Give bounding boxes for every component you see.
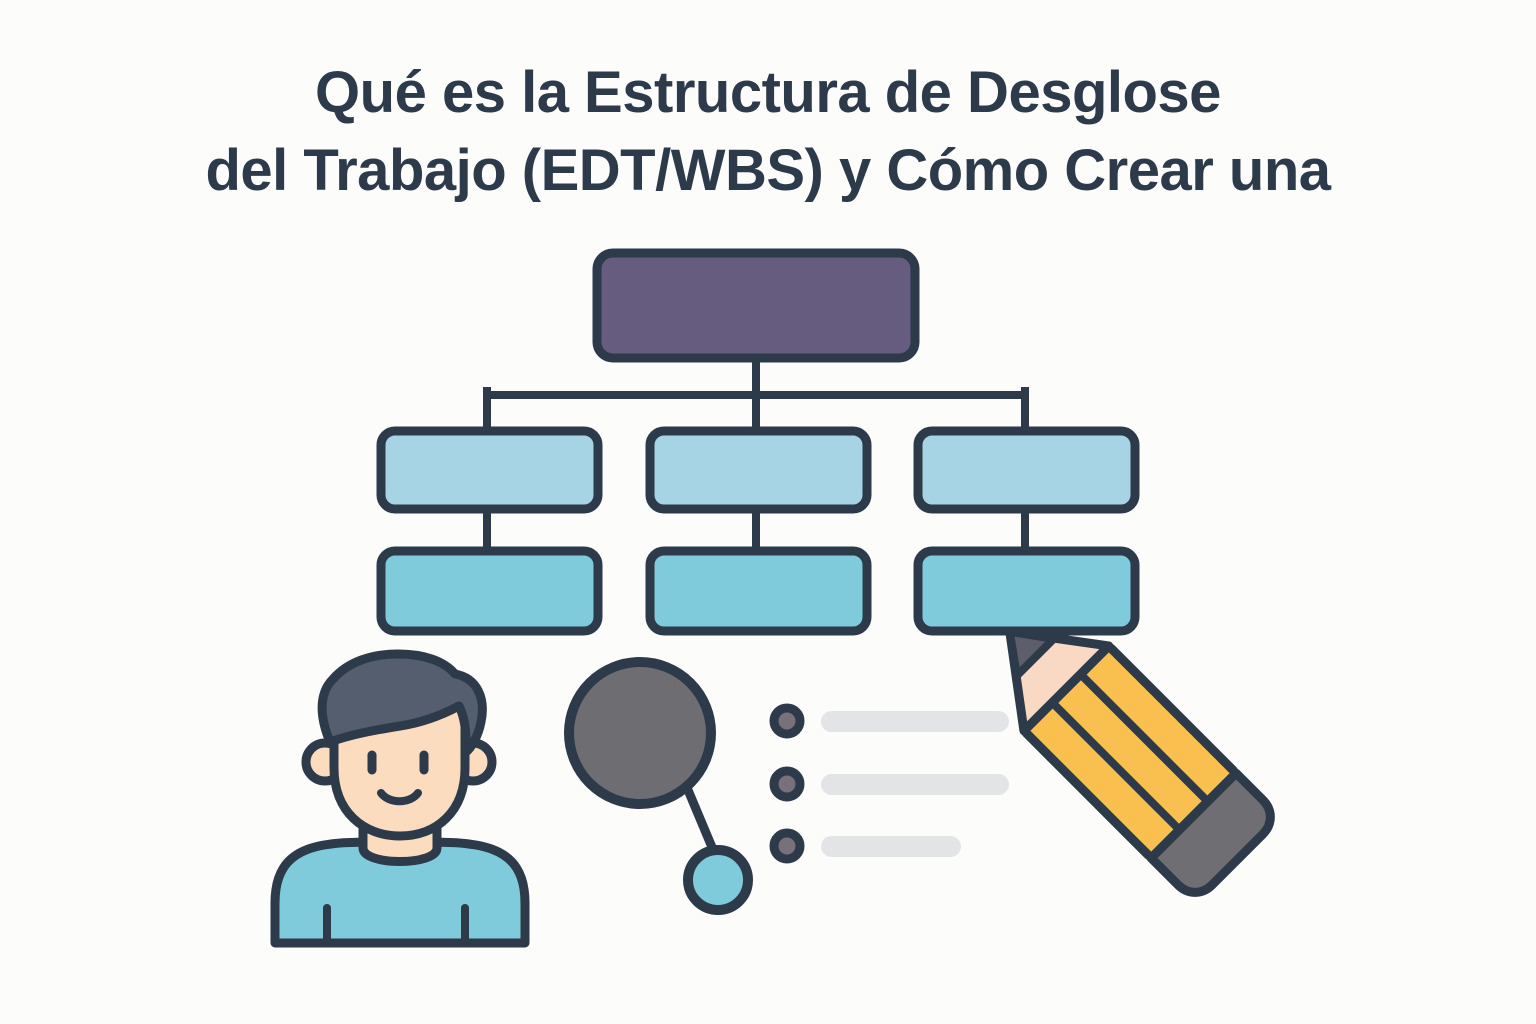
infographic-canvas: Qué es la Estructura de Desglose del Tra… bbox=[0, 0, 1536, 1024]
bullet-dot-icon bbox=[774, 771, 800, 797]
wbs-node-root[interactable] bbox=[597, 253, 915, 358]
linked-nodes[interactable] bbox=[569, 662, 748, 910]
bullet-dot-icon bbox=[774, 833, 800, 859]
wbs-node-l3-b-shape bbox=[650, 551, 867, 631]
list-item-bar bbox=[821, 836, 961, 857]
small-node-circle[interactable] bbox=[688, 850, 748, 910]
wbs-node-l3-a-shape bbox=[381, 551, 598, 631]
bullet-dot-icon bbox=[774, 708, 800, 734]
wbs-node-l3-a[interactable] bbox=[381, 551, 598, 631]
list-item[interactable] bbox=[774, 771, 1009, 797]
list-item[interactable] bbox=[774, 833, 961, 859]
wbs-node-root-shape bbox=[597, 253, 915, 358]
node-link-line bbox=[688, 790, 714, 852]
wbs-node-l3-c[interactable] bbox=[918, 551, 1135, 631]
list-item[interactable] bbox=[774, 708, 1009, 734]
list-item-bar bbox=[821, 711, 1009, 732]
wbs-node-l3-c-shape bbox=[918, 551, 1135, 631]
list-item-bar bbox=[821, 774, 1009, 795]
pencil-icon[interactable] bbox=[967, 589, 1280, 902]
wbs-node-l2-b-shape bbox=[650, 431, 867, 509]
placeholder-bullet-list bbox=[774, 708, 1009, 859]
wbs-node-l2-a-shape bbox=[381, 431, 598, 509]
wbs-node-l2-b[interactable] bbox=[650, 431, 867, 509]
wbs-node-l3-b[interactable] bbox=[650, 551, 867, 631]
large-node-circle[interactable] bbox=[569, 662, 711, 804]
wbs-illustration bbox=[0, 0, 1536, 1024]
wbs-node-l2-a[interactable] bbox=[381, 431, 598, 509]
wbs-node-l2-c-shape bbox=[918, 431, 1135, 509]
wbs-node-l2-c[interactable] bbox=[918, 431, 1135, 509]
person-icon[interactable] bbox=[275, 654, 525, 943]
